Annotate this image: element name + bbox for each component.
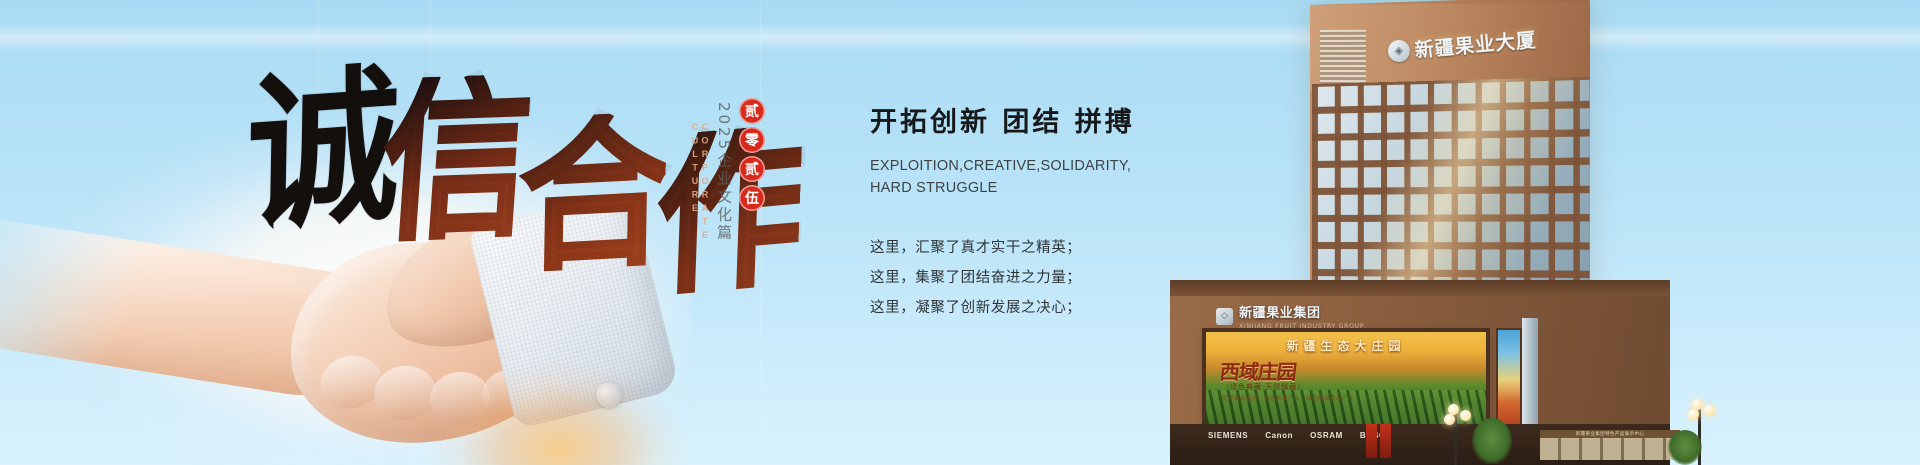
red-shop-banner — [1366, 424, 1377, 458]
billboard-header: 新疆生态大庄园 — [1206, 337, 1486, 354]
lamp-globe-icon — [1460, 410, 1471, 421]
seal-stamp: 伍 — [739, 185, 765, 211]
headquarters-building-photo: ◈ 新疆果业大厦 ◇ 新疆果业集团 XINJIANG FRUIT INDUSTR… — [1020, 0, 1920, 465]
seal-stamp: 贰 — [739, 156, 765, 182]
billboard-brand: 西域庄园 — [1218, 356, 1298, 385]
lamp-globe-icon — [1444, 414, 1455, 425]
group-logo-subtext: XINJIANG FRUIT INDUSTRY GROUP — [1239, 323, 1364, 330]
lamp-globe-icon — [1688, 409, 1699, 420]
lamp-globe-icon — [1704, 405, 1715, 416]
seal-stamp: 贰 — [739, 98, 765, 124]
billboard-subtitle: （绿色典藏·天然臻藏） — [1222, 382, 1305, 392]
led-billboard: 新疆生态大庄园 西域庄园 （绿色典藏·天然臻藏） 优质果品基地 特色林果产业 绿… — [1206, 332, 1486, 424]
corporate-culture-label: CORPORATE CULTURE — [690, 122, 710, 326]
red-shop-banner — [1380, 424, 1391, 458]
vertical-banner — [1498, 330, 1520, 434]
shop-sign: OSRAM — [1310, 431, 1343, 440]
shop-sign: Canon — [1265, 431, 1293, 440]
group-logo-band: ◇ 新疆果业集团 XINJIANG FRUIT INDUSTRY GROUP — [1216, 302, 1364, 330]
vertical-label-strip: CORPORATE CULTURE 2025企业文化篇 贰 零 贰 伍 — [690, 96, 765, 326]
seal-stamp: 零 — [739, 127, 765, 153]
podium-cornice — [1170, 280, 1670, 296]
group-logo-icon: ◇ — [1216, 308, 1233, 325]
shop-awnings — [1540, 438, 1680, 460]
corporate-culture-banner: 诚 信 合 作 CORPORATE CULTURE 2025企业文化篇 贰 零 … — [0, 0, 1920, 465]
shop-sign: SIEMENS — [1208, 431, 1248, 440]
street-tree — [1668, 430, 1702, 465]
billboard-fine-print: 优质果品基地 特色林果产业 绿色健康食品产业 — [1222, 394, 1354, 402]
year-seal-group: 贰 零 贰 伍 — [739, 98, 765, 211]
group-logo-texts: 新疆果业集团 XINJIANG FRUIT INDUSTRY GROUP — [1239, 302, 1364, 330]
group-logo-text: 新疆果业集团 — [1239, 302, 1364, 321]
year-theme-label: 2025企业文化篇 — [714, 102, 735, 242]
street-tree — [1472, 418, 1512, 464]
company-logo-icon: ◈ — [1387, 39, 1411, 63]
handshake-photo — [0, 150, 710, 465]
